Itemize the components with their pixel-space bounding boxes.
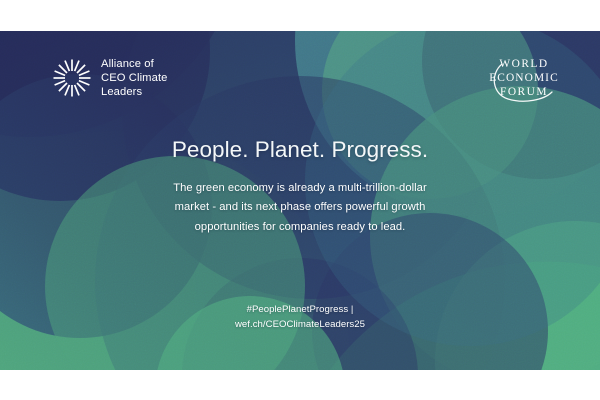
wef-line-1: WORLD [499, 58, 548, 70]
body-line-2: market - and its next phase offers power… [70, 198, 530, 217]
alliance-line-1: Alliance of [101, 57, 168, 71]
campaign-url[interactable]: wef.ch/CEOClimateLeaders25 [0, 318, 600, 333]
copy-block: People. Planet. Progress. The green econ… [0, 136, 600, 237]
body-line-3: opportunities for companies ready to lea… [70, 218, 530, 237]
page-title: People. Planet. Progress. [70, 136, 530, 163]
alliance-logo: Alliance of CEO Climate Leaders [52, 57, 168, 100]
alliance-logo-text: Alliance of CEO Climate Leaders [101, 57, 168, 100]
alliance-line-2: CEO Climate [101, 71, 168, 85]
wef-line-3: FORUM [500, 86, 548, 98]
starburst-icon [52, 58, 92, 98]
wef-logo: WORLD ECONOMIC FORUM [472, 52, 576, 108]
body-line-1: The green economy is already a multi-tri… [70, 179, 530, 198]
wef-ring-icon: WORLD ECONOMIC FORUM [472, 52, 576, 108]
alliance-line-3: Leaders [101, 85, 168, 99]
footer-block: #PeoplePlanetProgress | wef.ch/CEOClimat… [0, 303, 600, 332]
wef-line-2: ECONOMIC [489, 72, 559, 84]
body-copy: The green economy is already a multi-tri… [70, 179, 530, 237]
hashtag-label: #PeoplePlanetProgress | [0, 303, 600, 318]
